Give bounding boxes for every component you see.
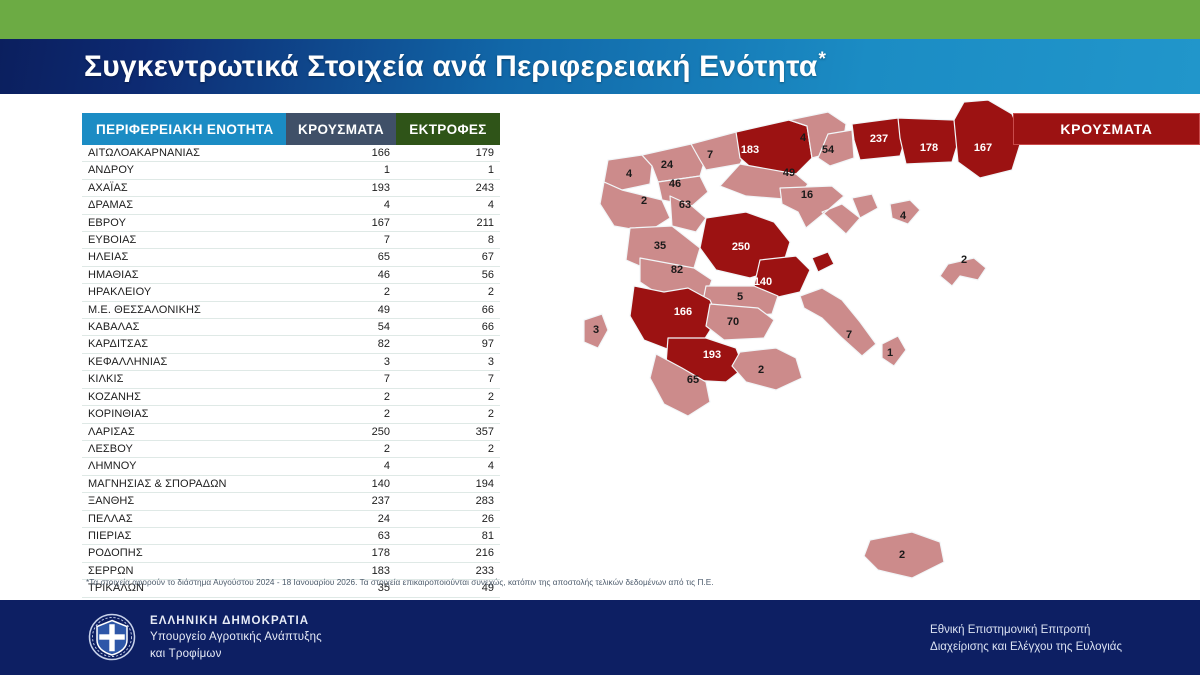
ministry-line-1: ΕΛΛΗΝΙΚΗ ΔΗΜΟΚΡΑΤΙΑ bbox=[150, 613, 322, 629]
ministry-text-lines: ΕΛΛΗΝΙΚΗ ΔΗΜΟΚΡΑΤΙΑ Υπουργείο Αγροτικής … bbox=[150, 613, 322, 662]
table-row[interactable]: ΞΑΝΘΗΣ237283 bbox=[82, 493, 500, 510]
cell-region-name: ΛΕΣΒΟΥ bbox=[82, 440, 286, 457]
table-row[interactable]: ΕΥΒΟΙΑΣ78 bbox=[82, 232, 500, 249]
map-value-label: 183 bbox=[741, 144, 759, 156]
table-row[interactable]: ΕΒΡΟΥ167211 bbox=[82, 214, 500, 231]
cell-cases: 1 bbox=[286, 162, 396, 179]
cell-culls: 2 bbox=[396, 388, 500, 405]
cell-culls: 66 bbox=[396, 319, 500, 336]
cell-culls: 3 bbox=[396, 353, 500, 370]
cell-cases: 2 bbox=[286, 406, 396, 423]
map-value-label: 2 bbox=[758, 364, 764, 376]
table-row[interactable]: ΜΑΓΝΗΣΙΑΣ & ΣΠΟΡΑΔΩΝ140194 bbox=[82, 475, 500, 492]
cell-cases: 65 bbox=[286, 249, 396, 266]
cell-region-name: ΕΒΡΟΥ bbox=[82, 214, 286, 231]
cell-region-name: ΛΑΡΙΣΑΣ bbox=[82, 423, 286, 440]
cell-cases: 2 bbox=[286, 440, 396, 457]
cell-cases: 4 bbox=[286, 458, 396, 475]
cell-culls: 56 bbox=[396, 266, 500, 283]
table-row[interactable]: ΠΕΛΛΑΣ2426 bbox=[82, 510, 500, 527]
map-value-label: 178 bbox=[920, 142, 938, 154]
cell-region-name: ΚΑΒΑΛΑΣ bbox=[82, 319, 286, 336]
region-evrou bbox=[954, 100, 1022, 178]
table-row[interactable]: ΛΗΜΝΟΥ44 bbox=[82, 458, 500, 475]
table-row[interactable]: ΛΕΣΒΟΥ22 bbox=[82, 440, 500, 457]
committee-line-1: Εθνική Επιστημονική Επιτροπή bbox=[930, 622, 1122, 639]
table-row[interactable]: ΚΑΡΔΙΤΣΑΣ8297 bbox=[82, 336, 500, 353]
region-androu bbox=[882, 336, 906, 366]
map-value-label: 5 bbox=[737, 291, 743, 303]
cell-cases: 237 bbox=[286, 493, 396, 510]
table-header: ΠΕΡΙΦΕΡΕΙΑΚΗ ΕΝΟΤΗΤΑ ΚΡΟΥΣΜΑΤΑ ΕΚΤΡΟΦΕΣ bbox=[82, 113, 500, 145]
table-row[interactable]: ΠΙΕΡΙΑΣ6381 bbox=[82, 527, 500, 544]
cell-culls: 97 bbox=[396, 336, 500, 353]
table-row[interactable]: ΚΙΛΚΙΣ77 bbox=[82, 371, 500, 388]
table-row[interactable]: ΗΛΕΙΑΣ6567 bbox=[82, 249, 500, 266]
cell-cases: 7 bbox=[286, 232, 396, 249]
map-value-label: 237 bbox=[870, 133, 888, 145]
cell-cases: 7 bbox=[286, 371, 396, 388]
map-value-label: 16 bbox=[801, 189, 813, 201]
cell-cases: 63 bbox=[286, 527, 396, 544]
map-value-label: 46 bbox=[669, 178, 681, 190]
title-banner: Συγκεντρωτικά Στοιχεία ανά Περιφερειακή … bbox=[0, 39, 1200, 94]
cell-region-name: ΡΟΔΟΠΗΣ bbox=[82, 545, 286, 562]
cell-cases: 4 bbox=[286, 197, 396, 214]
map-value-label: 2 bbox=[961, 254, 967, 266]
cell-region-name: ΗΜΑΘΙΑΣ bbox=[82, 266, 286, 283]
cell-culls: 216 bbox=[396, 545, 500, 562]
cell-cases: 54 bbox=[286, 319, 396, 336]
cell-culls: 67 bbox=[396, 249, 500, 266]
table-row[interactable]: ΚΑΒΑΛΑΣ5466 bbox=[82, 319, 500, 336]
map-value-label: 4 bbox=[900, 210, 907, 222]
cell-cases: 2 bbox=[286, 284, 396, 301]
cell-cases: 167 bbox=[286, 214, 396, 231]
map-value-label: 70 bbox=[727, 316, 739, 328]
cell-culls: 357 bbox=[396, 423, 500, 440]
cell-cases: 140 bbox=[286, 475, 396, 492]
cell-culls: 2 bbox=[396, 440, 500, 457]
cell-culls: 26 bbox=[396, 510, 500, 527]
cell-region-name: ΚΕΦΑΛΛΗΝΙΑΣ bbox=[82, 353, 286, 370]
cell-culls: 66 bbox=[396, 301, 500, 318]
cell-cases: 46 bbox=[286, 266, 396, 283]
footer-bar: ΕΛΛΗΝΙΚΗ ΔΗΜΟΚΡΑΤΙΑ Υπουργείο Αγροτικής … bbox=[0, 600, 1200, 675]
map-value-label: 2 bbox=[641, 195, 647, 207]
map-value-label: 140 bbox=[754, 276, 772, 288]
region-evoias bbox=[800, 288, 876, 356]
cell-culls: 2 bbox=[396, 406, 500, 423]
greece-choropleth-map: 4183237541781677244464916263435250822140… bbox=[560, 100, 1200, 580]
cell-region-name: ΑΝΔΡΟΥ bbox=[82, 162, 286, 179]
page-title: Συγκεντρωτικά Στοιχεία ανά Περιφερειακή … bbox=[84, 50, 826, 84]
cell-cases: 2 bbox=[286, 388, 396, 405]
table-row[interactable]: ΗΡΑΚΛΕΙΟΥ22 bbox=[82, 284, 500, 301]
ministry-line-3: και Τροφίμων bbox=[150, 646, 322, 662]
map-value-label: 65 bbox=[687, 374, 699, 386]
table-row[interactable]: ΡΟΔΟΠΗΣ178216 bbox=[82, 545, 500, 562]
region-chalkidikis bbox=[780, 186, 878, 234]
table-body: ΑΙΤΩΛΟΑΚΑΡΝΑΝΙΑΣ166179ΑΝΔΡΟΥ11ΑΧΑΪΑΣ1932… bbox=[82, 145, 500, 667]
map-value-label: 7 bbox=[846, 329, 852, 341]
cell-region-name: ΚΙΛΚΙΣ bbox=[82, 371, 286, 388]
map-value-label: 4 bbox=[800, 132, 807, 144]
map-value-label: 193 bbox=[703, 349, 721, 361]
cell-culls: 2 bbox=[396, 284, 500, 301]
table-row[interactable]: ΔΡΑΜΑΣ44 bbox=[82, 197, 500, 214]
cell-region-name: ΗΡΑΚΛΕΙΟΥ bbox=[82, 284, 286, 301]
table-row[interactable]: ΑΝΔΡΟΥ11 bbox=[82, 162, 500, 179]
cell-cases: 49 bbox=[286, 301, 396, 318]
top-green-band bbox=[0, 0, 1200, 39]
cell-culls: 179 bbox=[396, 145, 500, 162]
cell-region-name: ΑΧΑΪΑΣ bbox=[82, 179, 286, 196]
cell-region-name: ΠΙΕΡΙΑΣ bbox=[82, 527, 286, 544]
map-value-label: 166 bbox=[674, 306, 692, 318]
ministry-identity: ΕΛΛΗΝΙΚΗ ΔΗΜΟΚΡΑΤΙΑ Υπουργείο Αγροτικής … bbox=[88, 613, 322, 662]
cell-region-name: ΑΙΤΩΛΟΑΚΑΡΝΑΝΙΑΣ bbox=[82, 145, 286, 162]
table-row[interactable]: ΚΟΡΙΝΘΙΑΣ22 bbox=[82, 406, 500, 423]
title-footnote-marker: * bbox=[818, 49, 826, 70]
regional-data-table-panel: ΠΕΡΙΦΕΡΕΙΑΚΗ ΕΝΟΤΗΤΑ ΚΡΟΥΣΜΑΤΑ ΕΚΤΡΟΦΕΣ … bbox=[82, 113, 500, 675]
slide-root: Συγκεντρωτικά Στοιχεία ανά Περιφερειακή … bbox=[0, 0, 1200, 675]
cell-region-name: ΚΟΡΙΝΘΙΑΣ bbox=[82, 406, 286, 423]
cell-cases: 193 bbox=[286, 179, 396, 196]
cell-culls: 194 bbox=[396, 475, 500, 492]
map-value-label: 54 bbox=[822, 144, 835, 156]
cell-cases: 178 bbox=[286, 545, 396, 562]
map-value-label: 167 bbox=[974, 142, 992, 154]
table-row[interactable]: ΗΜΑΘΙΑΣ4656 bbox=[82, 266, 500, 283]
region-korinthias bbox=[732, 348, 802, 390]
cell-culls: 4 bbox=[396, 458, 500, 475]
cell-region-name: ΕΥΒΟΙΑΣ bbox=[82, 232, 286, 249]
map-value-label: 63 bbox=[679, 199, 691, 211]
cell-cases: 250 bbox=[286, 423, 396, 440]
map-value-label: 82 bbox=[671, 264, 683, 276]
table-row[interactable]: ΑΧΑΪΑΣ193243 bbox=[82, 179, 500, 196]
map-value-label: 1 bbox=[887, 347, 893, 359]
cell-culls: 4 bbox=[396, 197, 500, 214]
table-row[interactable]: ΛΑΡΙΣΑΣ250357 bbox=[82, 423, 500, 440]
cell-cases: 24 bbox=[286, 510, 396, 527]
cell-culls: 1 bbox=[396, 162, 500, 179]
cell-cases: 82 bbox=[286, 336, 396, 353]
cell-culls: 7 bbox=[396, 371, 500, 388]
map-value-label: 2 bbox=[899, 549, 905, 561]
cell-region-name: ΞΑΝΘΗΣ bbox=[82, 493, 286, 510]
cell-region-name: ΔΡΑΜΑΣ bbox=[82, 197, 286, 214]
table-row[interactable]: ΚΟΖΑΝΗΣ22 bbox=[82, 388, 500, 405]
cell-culls: 211 bbox=[396, 214, 500, 231]
cell-culls: 283 bbox=[396, 493, 500, 510]
map-value-label: 24 bbox=[661, 159, 674, 171]
greek-coat-of-arms-icon bbox=[88, 613, 136, 661]
committee-line-2: Διαχείρισης και Ελέγχου της Ευλογιάς bbox=[930, 639, 1122, 656]
cell-region-name: ΠΕΛΛΑΣ bbox=[82, 510, 286, 527]
map-value-label: 49 bbox=[783, 167, 795, 179]
table-header-row: ΠΕΡΙΦΕΡΕΙΑΚΗ ΕΝΟΤΗΤΑ ΚΡΟΥΣΜΑΤΑ ΕΚΤΡΟΦΕΣ bbox=[82, 113, 500, 145]
table-row[interactable]: ΚΕΦΑΛΛΗΝΙΑΣ33 bbox=[82, 353, 500, 370]
map-value-label: 250 bbox=[732, 241, 750, 253]
map-value-label: 3 bbox=[593, 324, 599, 336]
map-value-label: 4 bbox=[626, 168, 633, 180]
map-svg: 4183237541781677244464916263435250822140… bbox=[560, 100, 1200, 580]
legend-cases-badge[interactable]: ΚΡΟΥΣΜΑΤΑ bbox=[1013, 113, 1200, 145]
cell-culls: 243 bbox=[396, 179, 500, 196]
cell-region-name: ΜΑΓΝΗΣΙΑΣ & ΣΠΟΡΑΔΩΝ bbox=[82, 475, 286, 492]
page-title-text: Συγκεντρωτικά Στοιχεία ανά Περιφερειακή … bbox=[84, 50, 817, 83]
cell-cases: 3 bbox=[286, 353, 396, 370]
column-header-cases[interactable]: ΚΡΟΥΣΜΑΤΑ bbox=[286, 113, 396, 145]
cell-region-name: ΛΗΜΝΟΥ bbox=[82, 458, 286, 475]
committee-identity: Εθνική Επιστημονική Επιτροπή Διαχείρισης… bbox=[930, 622, 1122, 657]
cell-culls: 8 bbox=[396, 232, 500, 249]
cell-region-name: ΚΑΡΔΙΤΣΑΣ bbox=[82, 336, 286, 353]
cell-region-name: ΚΟΖΑΝΗΣ bbox=[82, 388, 286, 405]
regional-data-table: ΠΕΡΙΦΕΡΕΙΑΚΗ ΕΝΟΤΗΤΑ ΚΡΟΥΣΜΑΤΑ ΕΚΤΡΟΦΕΣ … bbox=[82, 113, 500, 675]
cell-region-name: ΗΛΕΙΑΣ bbox=[82, 249, 286, 266]
table-row[interactable]: Μ.Ε. ΘΕΣΣΑΛΟΝΙΚΗΣ4966 bbox=[82, 301, 500, 318]
map-value-label: 35 bbox=[654, 240, 666, 252]
ministry-line-2: Υπουργείο Αγροτικής Ανάπτυξης bbox=[150, 629, 322, 645]
cell-culls: 81 bbox=[396, 527, 500, 544]
table-row[interactable]: ΑΙΤΩΛΟΑΚΑΡΝΑΝΙΑΣ166179 bbox=[82, 145, 500, 162]
map-value-label: 7 bbox=[707, 149, 713, 161]
cell-cases: 166 bbox=[286, 145, 396, 162]
column-header-culls[interactable]: ΕΚΤΡΟΦΕΣ bbox=[396, 113, 500, 145]
cell-region-name: Μ.Ε. ΘΕΣΣΑΛΟΝΙΚΗΣ bbox=[82, 301, 286, 318]
column-header-region[interactable]: ΠΕΡΙΦΕΡΕΙΑΚΗ ΕΝΟΤΗΤΑ bbox=[82, 113, 286, 145]
